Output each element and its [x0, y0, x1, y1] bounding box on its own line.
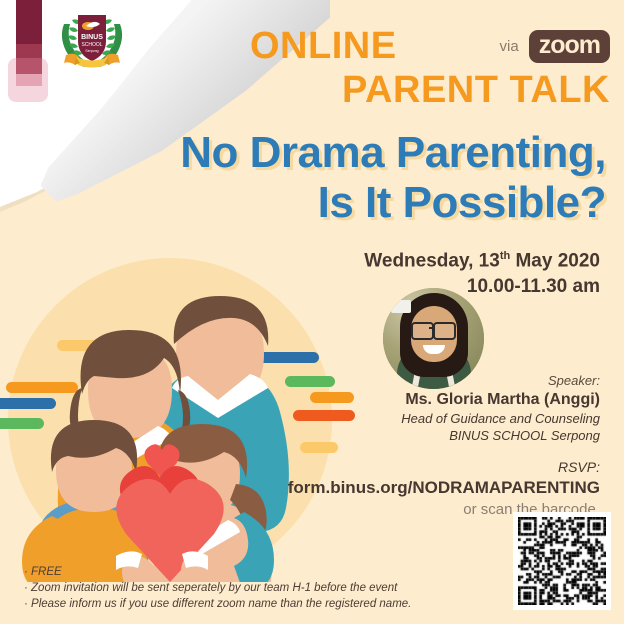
event-date-rest: May 2020 [510, 250, 600, 271]
qr-canvas [518, 517, 606, 605]
binus-school-logo: BINUS SCHOOL Serpong [58, 6, 126, 70]
footnote-line: · Please inform us if you use different … [24, 596, 411, 612]
poster-canvas: BINUS SCHOOL Serpong ONLINE via zoom PAR… [0, 0, 624, 624]
speaker-name: Ms. Gloria Martha (Anggi) [401, 389, 600, 410]
header-via-label: via [500, 38, 519, 55]
speaker-label: Speaker: [401, 372, 600, 389]
footnote-line: · Zoom invitation will be sent seperatel… [24, 580, 411, 596]
speaker-role: Head of Guidance and Counseling [401, 410, 600, 427]
page-title-line1: No Drama Parenting, [20, 128, 606, 178]
event-date-suffix: th [500, 250, 510, 262]
header-block: ONLINE via zoom PARENT TALK [250, 24, 610, 112]
qr-barcode[interactable] [513, 512, 611, 610]
avatar-name-badge [391, 300, 411, 313]
speaker-block: Speaker: Ms. Gloria Martha (Anggi) Head … [401, 372, 600, 444]
svg-text:BINUS: BINUS [81, 34, 103, 41]
event-date-day: Wednesday, 13 [364, 250, 500, 271]
rsvp-label: RSVP: [288, 458, 600, 476]
header-line1-row: ONLINE via zoom [250, 24, 610, 68]
maroon-ribbon-blob [8, 58, 48, 102]
page-title: No Drama Parenting, Is It Possible? [20, 128, 606, 228]
header-parent-talk-label: PARENT TALK [250, 68, 610, 112]
event-date: Wednesday, 13th May 2020 [364, 243, 600, 274]
svg-text:SCHOOL: SCHOOL [81, 42, 102, 48]
rsvp-block: RSVP: form.binus.org/NODRAMAPARENTING or… [288, 458, 600, 520]
footnotes: · FREE· Zoom invitation will be sent sep… [24, 564, 411, 612]
svg-text:Serpong: Serpong [85, 49, 98, 53]
avatar-glasses-right [433, 322, 456, 340]
zoom-platform-badge: zoom [529, 30, 610, 63]
rsvp-url[interactable]: form.binus.org/NODRAMAPARENTING [288, 476, 600, 499]
footnote-line: · FREE [24, 564, 411, 580]
family-illustration [8, 258, 332, 582]
header-online-label: ONLINE [250, 24, 397, 68]
page-title-line2: Is It Possible? [20, 178, 606, 228]
speaker-organization: BINUS SCHOOL Serpong [401, 427, 600, 444]
avatar-glasses-bridge [429, 327, 434, 329]
avatar-glasses-left [411, 322, 434, 340]
